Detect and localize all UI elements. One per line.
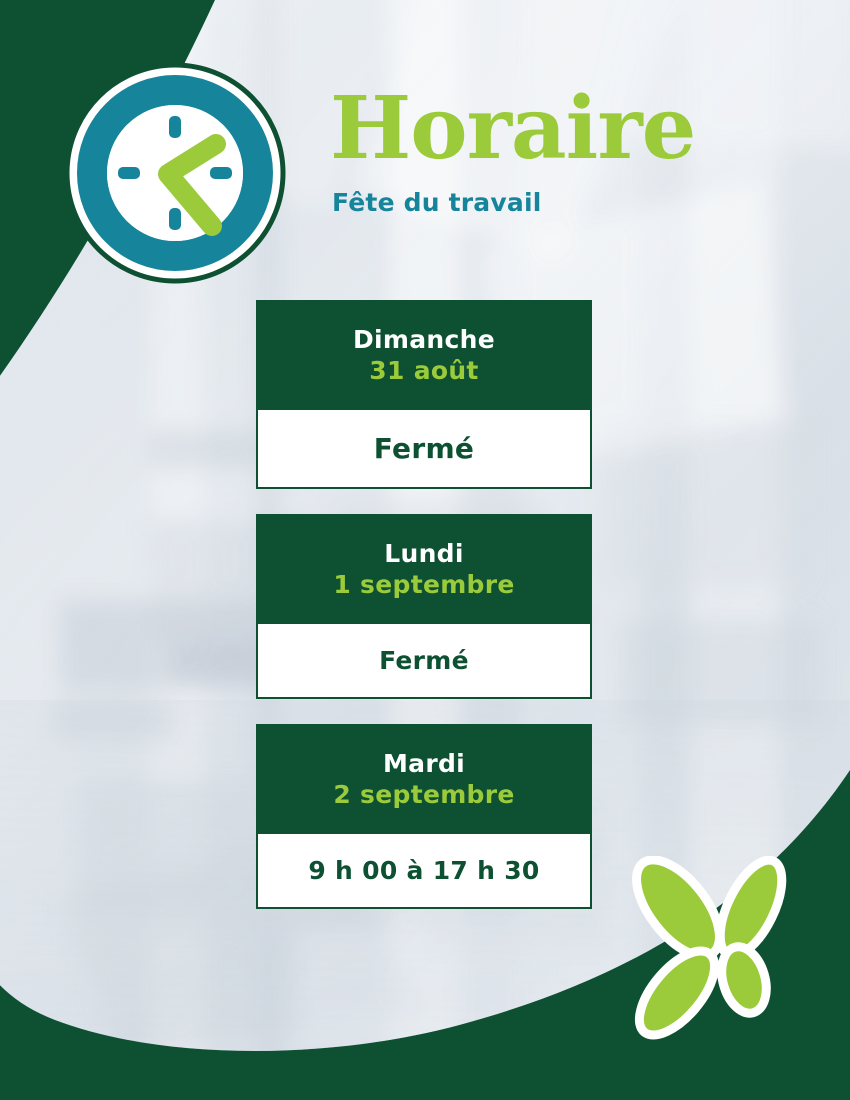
- schedule-card-date: 2 septembre: [266, 779, 582, 810]
- schedule-card-header: Lundi 1 septembre: [256, 514, 592, 624]
- poster-canvas: Horaire Fête du travail Dimanche 31 août…: [0, 0, 850, 1100]
- schedule-card-header: Mardi 2 septembre: [256, 724, 592, 834]
- schedule-card: Mardi 2 septembre 9 h 00 à 17 h 30: [256, 724, 592, 909]
- schedule-card-day: Lundi: [266, 540, 582, 569]
- clock-icon: [64, 62, 286, 284]
- schedule-card-header: Dimanche 31 août: [256, 300, 592, 410]
- schedule-card: Dimanche 31 août Fermé: [256, 300, 592, 489]
- schedule-card-day: Mardi: [266, 750, 582, 779]
- butterfly-logo-icon: [620, 856, 808, 1046]
- schedule-card-hours: Fermé: [266, 646, 582, 675]
- schedule-card-body: Fermé: [258, 410, 590, 487]
- schedule-card: Lundi 1 septembre Fermé: [256, 514, 592, 699]
- header-title-block: Horaire Fête du travail: [330, 88, 760, 217]
- page-subtitle: Fête du travail: [332, 188, 760, 217]
- schedule-card-hours: Fermé: [266, 432, 582, 465]
- schedule-card-date: 31 août: [266, 355, 582, 386]
- page-title: Horaire: [330, 88, 760, 170]
- schedule-card-list: Dimanche 31 août Fermé Lundi 1 septembre…: [256, 300, 592, 909]
- schedule-card-day: Dimanche: [266, 326, 582, 355]
- schedule-card-body: 9 h 00 à 17 h 30: [258, 834, 590, 907]
- schedule-card-hours: 9 h 00 à 17 h 30: [266, 856, 582, 885]
- schedule-card-date: 1 septembre: [266, 569, 582, 600]
- schedule-card-body: Fermé: [258, 624, 590, 697]
